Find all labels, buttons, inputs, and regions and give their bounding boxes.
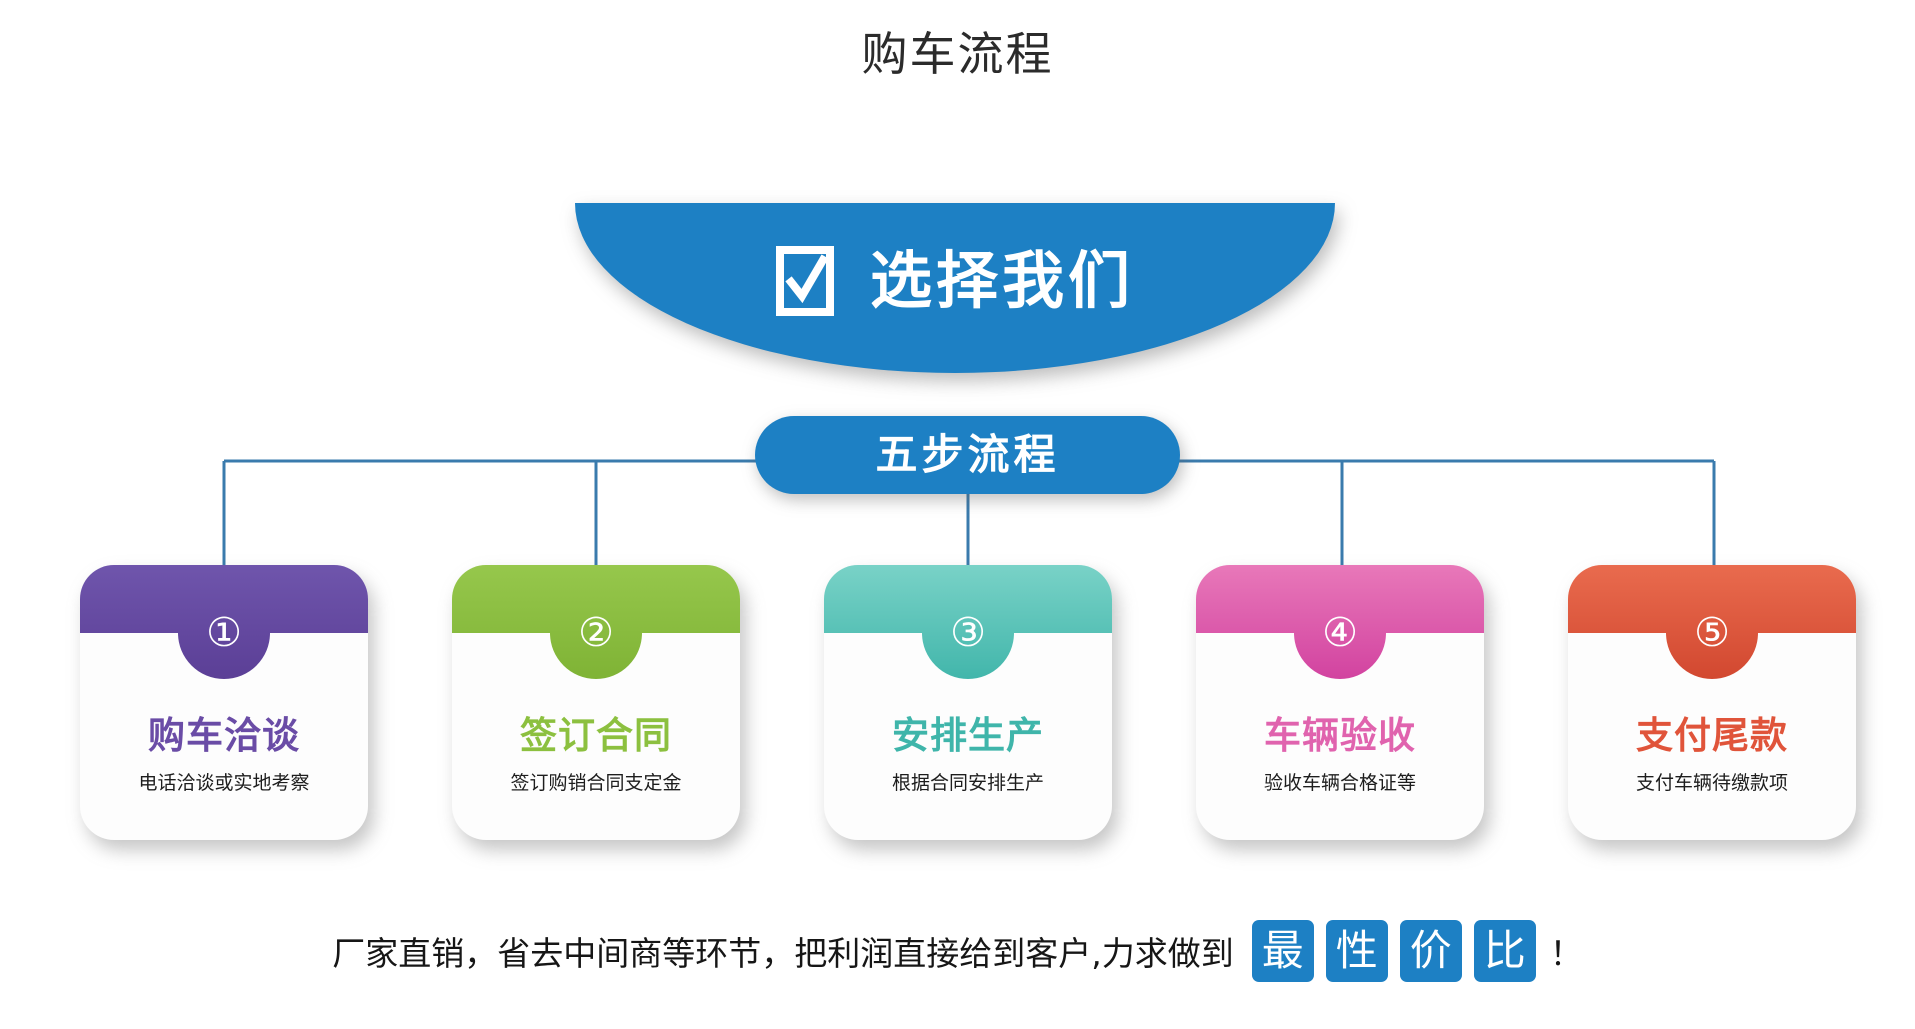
- step-title: 安排生产: [824, 715, 1112, 758]
- step-number: ⑤: [1568, 613, 1856, 653]
- banner-body: 选择我们: [575, 203, 1335, 373]
- step-number: ④: [1196, 613, 1484, 653]
- card-text: 安排生产 根据合同安排生产: [824, 715, 1112, 795]
- footer-slogan: 厂家直销，省去中间商等环节，把利润直接给到客户,力求做到 最 性 价 比 ！: [0, 920, 1915, 982]
- card-surface: ⑤ 支付尾款 支付车辆待缴款项: [1568, 565, 1856, 840]
- step-title: 支付尾款: [1568, 715, 1856, 758]
- highlight-char-1: 最: [1252, 920, 1314, 982]
- step-subtitle: 签订购销合同支定金: [452, 768, 740, 795]
- pill-label: 五步流程: [875, 434, 1059, 476]
- choose-us-banner: 选择我们: [575, 203, 1335, 373]
- card-surface: ④ 车辆验收 验收车辆合格证等: [1196, 565, 1484, 840]
- pill-body: 五步流程: [755, 416, 1180, 494]
- step-subtitle: 验收车辆合格证等: [1196, 768, 1484, 795]
- checked-checkbox-icon: [776, 246, 834, 316]
- step-title: 签订合同: [452, 715, 740, 758]
- highlight-char-4: 比: [1474, 920, 1536, 982]
- card-text: 支付尾款 支付车辆待缴款项: [1568, 715, 1856, 795]
- card-surface: ② 签订合同 签订购销合同支定金: [452, 565, 740, 840]
- footer-exclamation: ！: [1550, 927, 1583, 975]
- connector-lines: [0, 0, 1915, 1029]
- card-surface: ① 购车洽谈 电话洽谈或实地考察: [80, 565, 368, 840]
- footer-highlight-group: 最 性 价 比: [1252, 920, 1536, 982]
- page-title: 购车流程: [0, 18, 1915, 84]
- step-cards: ① 购车洽谈 电话洽谈或实地考察: [0, 565, 1915, 865]
- highlight-char-3: 价: [1400, 920, 1462, 982]
- highlight-char-2: 性: [1326, 920, 1388, 982]
- step-subtitle: 根据合同安排生产: [824, 768, 1112, 795]
- step-title: 车辆验收: [1196, 715, 1484, 758]
- slide-canvas: 购车流程 选择我们 五步流程: [0, 0, 1915, 1029]
- step-number: ③: [824, 613, 1112, 653]
- step-subtitle: 支付车辆待缴款项: [1568, 768, 1856, 795]
- step-card-4[interactable]: ④ 车辆验收 验收车辆合格证等: [1196, 565, 1484, 850]
- step-subtitle: 电话洽谈或实地考察: [80, 768, 368, 795]
- step-title: 购车洽谈: [80, 715, 368, 758]
- card-text: 签订合同 签订购销合同支定金: [452, 715, 740, 795]
- step-card-3[interactable]: ③ 安排生产 根据合同安排生产: [824, 565, 1112, 850]
- footer-lead-text: 厂家直销，省去中间商等环节，把利润直接给到客户,力求做到: [332, 927, 1234, 975]
- five-step-pill: 五步流程: [755, 416, 1180, 494]
- card-surface: ③ 安排生产 根据合同安排生产: [824, 565, 1112, 840]
- card-text: 购车洽谈 电话洽谈或实地考察: [80, 715, 368, 795]
- step-number: ②: [452, 613, 740, 653]
- card-text: 车辆验收 验收车辆合格证等: [1196, 715, 1484, 795]
- step-card-2[interactable]: ② 签订合同 签订购销合同支定金: [452, 565, 740, 850]
- step-card-5[interactable]: ⑤ 支付尾款 支付车辆待缴款项: [1568, 565, 1856, 850]
- step-card-1[interactable]: ① 购车洽谈 电话洽谈或实地考察: [80, 565, 368, 850]
- step-number: ①: [80, 613, 368, 653]
- banner-title: 选择我们: [870, 250, 1134, 312]
